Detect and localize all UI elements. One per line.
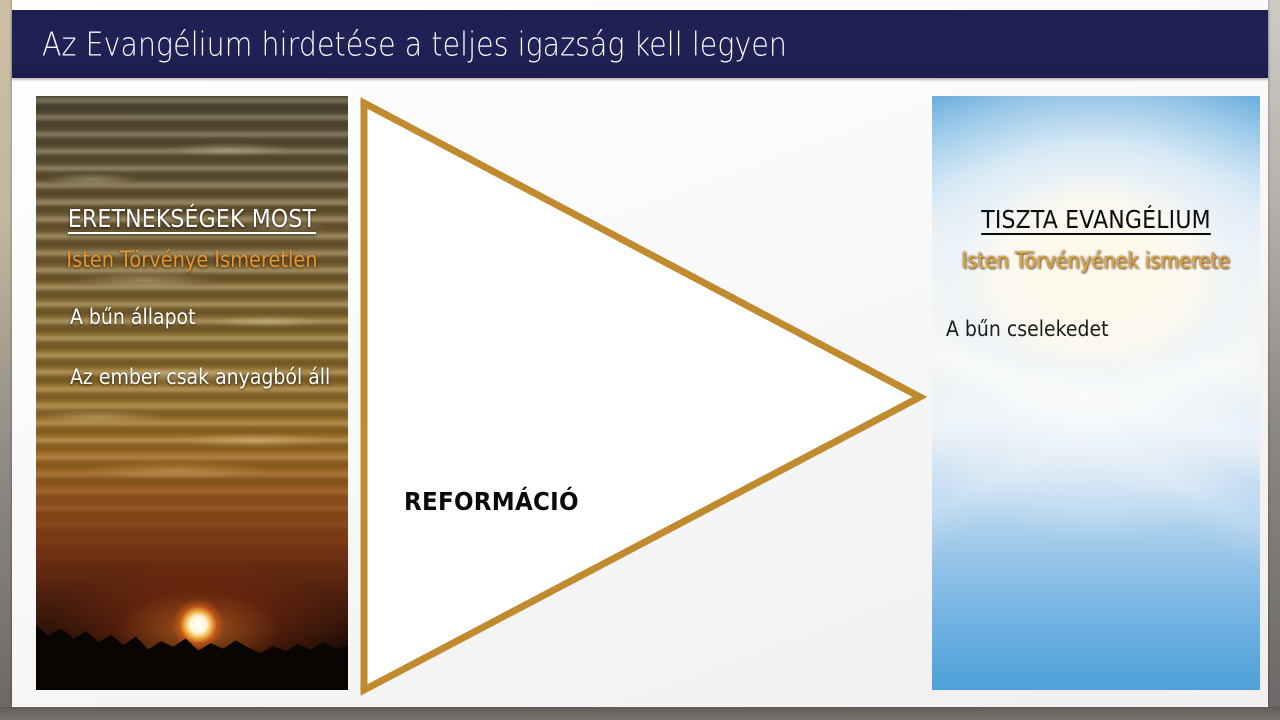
left-panel-heading-text: ERETNEKSÉGEK MOST [68, 204, 316, 233]
left-panel-bullet-2: Az ember csak anyagból áll [70, 365, 330, 389]
left-panel-subheading: Isten Törvénye Ismeretlen [55, 248, 330, 273]
photo-vignette [36, 96, 348, 690]
slide-title: Az Evangélium hirdetése a teljes igazság… [42, 25, 787, 64]
right-panel-subheading: Isten Törvényének ismerete [952, 249, 1241, 274]
right-panel-heading-text: TISZTA EVANGÉLIUM [981, 205, 1211, 234]
reformation-triangle [348, 90, 938, 705]
presentation-slide-viewport: REFORMÁCIÓ ERETNEKSÉGEK MOST Isten Törvé… [0, 0, 1280, 720]
slide-canvas: REFORMÁCIÓ ERETNEKSÉGEK MOST Isten Törvé… [12, 0, 1268, 707]
slide-title-band: Az Evangélium hirdetése a teljes igazság… [12, 10, 1268, 78]
reformation-label: REFORMÁCIÓ [404, 487, 579, 516]
right-panel-bullet-1: A bűn cselekedet [946, 317, 1109, 341]
left-panel-heading: ERETNEKSÉGEK MOST [55, 204, 330, 233]
bottom-chrome-strip [0, 707, 1280, 720]
right-panel-heading: TISZTA EVANGÉLIUM [952, 205, 1241, 234]
sun-rays-overlay [932, 96, 1260, 690]
right-panel-pure-gospel: TISZTA EVANGÉLIUM Isten Törvényének isme… [932, 96, 1260, 690]
left-panel-heresies: ERETNEKSÉGEK MOST Isten Törvénye Ismeret… [36, 96, 348, 690]
left-panel-bullet-1: A bűn állapot [70, 305, 196, 329]
triangle-shape [364, 103, 920, 690]
